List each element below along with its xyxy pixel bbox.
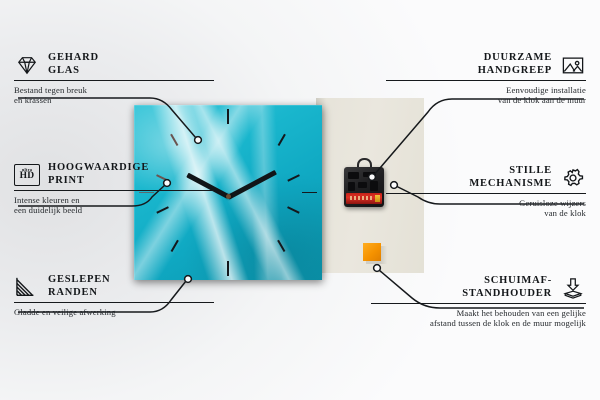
feature-divider xyxy=(14,190,214,191)
feature-title: HOOGWAARDIGE PRINT xyxy=(48,162,149,187)
feature-header: GEHARD GLAS xyxy=(14,52,214,77)
feature-subtitle: Maakt het behouden van een gelijke afsta… xyxy=(371,308,586,329)
feature-title: STILLE MECHANISME xyxy=(469,165,552,190)
feature-mechanism: STILLE MECHANISME Geruisloze wijzers van… xyxy=(386,165,586,219)
feature-header: SCHUIMAF- STANDHOUDER xyxy=(371,275,586,300)
feature-divider xyxy=(371,303,586,304)
feature-hd-print: ultra HD HOOGWAARDIGE PRINT Intense kleu… xyxy=(14,162,214,216)
feature-foam-holder: SCHUIMAF- STANDHOUDER Maakt het behouden… xyxy=(371,275,586,329)
hatched-edge-icon xyxy=(14,276,40,298)
feature-divider xyxy=(14,80,214,81)
feature-subtitle: Geruisloze wijzers van de klok xyxy=(386,198,586,219)
ultra-hd-icon: ultra HD xyxy=(14,164,40,186)
feature-ground-edges: GESLEPEN RANDEN Gladde en veilige afwerk… xyxy=(14,274,214,317)
press-down-pad-icon xyxy=(560,277,586,299)
feature-tempered-glass: GEHARD GLAS Bestand tegen breuk en krass… xyxy=(14,52,214,106)
feature-header: GESLEPEN RANDEN xyxy=(14,274,214,299)
feature-title: SCHUIMAF- STANDHOUDER xyxy=(462,275,552,300)
picture-frame-icon xyxy=(560,54,586,76)
infographic-stage: GEHARD GLAS Bestand tegen breuk en krass… xyxy=(0,0,600,400)
feature-subtitle: Intense kleuren en een duidelijk beeld xyxy=(14,195,214,216)
feature-header: STILLE MECHANISME xyxy=(386,165,586,190)
feature-handle: DUURZAME HANDGREEP Eenvoudige installati… xyxy=(386,52,586,106)
feature-header: DUURZAME HANDGREEP xyxy=(386,52,586,77)
feature-title: GESLEPEN RANDEN xyxy=(48,274,110,299)
feature-divider xyxy=(386,80,586,81)
feature-subtitle: Bestand tegen breuk en krassen xyxy=(14,85,214,106)
feature-subtitle: Eenvoudige installatie van de klok aan d… xyxy=(386,85,586,106)
feature-header: ultra HD HOOGWAARDIGE PRINT xyxy=(14,162,214,187)
feature-subtitle: Gladde en veilige afwerking xyxy=(14,307,214,318)
feature-title: GEHARD GLAS xyxy=(48,52,99,77)
gear-icon xyxy=(560,167,586,189)
feature-divider xyxy=(386,193,586,194)
diamond-icon xyxy=(14,54,40,76)
feature-divider xyxy=(14,302,214,303)
feature-title: DUURZAME HANDGREEP xyxy=(478,52,552,77)
